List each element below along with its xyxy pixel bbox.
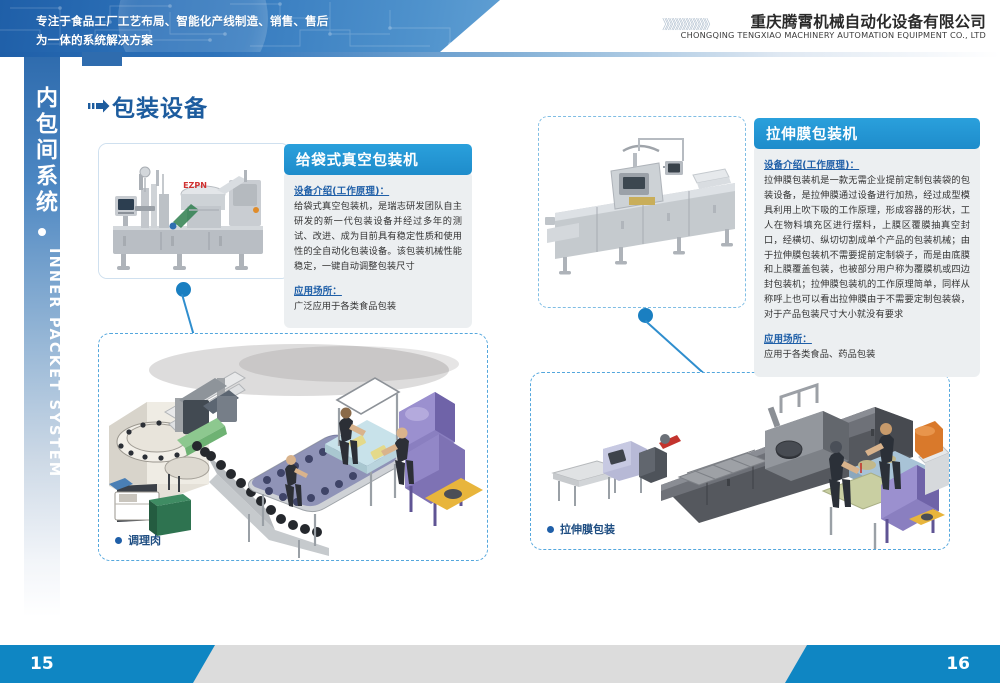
diagram2-bullet-icon — [547, 526, 554, 533]
card2-intro-text: 拉伸膜包装机是一款无需企业提前定制包装袋的包装设备，是拉伸膜通过设备进行加热，经… — [764, 174, 970, 323]
top-banner: 专注于食品工厂工艺布局、智能化产线制造、销售、售后 为一体的系统解决方案 》》》… — [0, 0, 1000, 52]
prepared-meat-line-illustration — [99, 334, 488, 561]
card-vacuum-bag-packing: 给袋式真空包装机 设备介绍(工作原理)： 给袋式真空包装机，是瑞志研发团队自主研… — [284, 144, 472, 328]
sidebar-title-en: INNER PACKET SYSTEM — [22, 248, 62, 478]
page-number-left: 15 — [30, 654, 54, 674]
photo-stretch-film-machine — [538, 116, 746, 308]
card1-intro-label: 设备介绍(工作原理)： — [294, 183, 462, 197]
photo-vacuum-bag-machine: EZPN — [98, 143, 290, 279]
company-name-cn: 重庆腾霄机械自动化设备有限公司 — [750, 10, 986, 32]
card2-usage-text: 应用于各类食品、药品包装 — [764, 348, 970, 363]
card1-usage-text: 广泛应用于各类食品包装 — [294, 300, 462, 315]
card2-intro-label: 设备介绍(工作原理)： — [764, 157, 970, 171]
card2-body: 设备介绍(工作原理)： 拉伸膜包装机是一款无需企业提前定制包装袋的包装设备，是拉… — [754, 145, 980, 377]
diagram1-bullet-icon — [115, 537, 122, 544]
arrow-right-icon — [88, 98, 110, 114]
card1-header: 给袋式真空包装机 — [284, 144, 472, 175]
card2-header: 拉伸膜包装机 — [754, 118, 980, 149]
card1-intro-text: 给袋式真空包装机，是瑞志研发团队自主研发的新一代包装设备并经过多年的测试、改进、… — [294, 200, 462, 275]
banner-tab-accent — [82, 52, 122, 66]
card-stretch-film-packing: 拉伸膜包装机 设备介绍(工作原理)： 拉伸膜包装机是一款无需企业提前定制包装袋的… — [754, 118, 980, 377]
diagram1-caption: 调理肉 — [115, 532, 161, 548]
diagram-prepared-meat: 调理肉 — [98, 333, 488, 561]
company-name-en: CHONGQING TENGXIAO MACHINERY AUTOMATION … — [681, 30, 986, 40]
diagram-stretch-film-packing: 拉伸膜包装 — [530, 372, 950, 550]
company-slogan: 专注于食品工厂工艺布局、智能化产线制造、销售、售后 为一体的系统解决方案 — [36, 12, 456, 50]
card1-body: 设备介绍(工作原理)： 给袋式真空包装机，是瑞志研发团队自主研发的新一代包装设备… — [284, 171, 472, 328]
diagram1-caption-text: 调理肉 — [128, 532, 161, 548]
page-number-right: 16 — [946, 654, 970, 674]
card1-usage-label: 应用场所： — [294, 283, 462, 297]
brochure-page: 专注于食品工厂工艺布局、智能化产线制造、销售、售后 为一体的系统解决方案 》》》… — [0, 0, 1000, 683]
diagram2-caption: 拉伸膜包装 — [547, 521, 615, 537]
slogan-line-2: 为一体的系统解决方案 — [36, 31, 456, 50]
sidebar-title-cn: 内包间系统 — [24, 86, 60, 216]
stretch-film-machine-image — [539, 117, 746, 308]
card2-usage-label: 应用场所： — [764, 331, 970, 345]
sidebar-bullet-icon — [38, 228, 46, 236]
vacuum-bag-machine-image: EZPN — [99, 144, 290, 279]
diagram2-caption-text: 拉伸膜包装 — [560, 521, 615, 537]
slogan-line-1: 专注于食品工厂工艺布局、智能化产线制造、销售、售后 — [36, 12, 456, 31]
banner-underline — [0, 52, 1000, 57]
svg-text:EZPN: EZPN — [183, 181, 207, 190]
page-title: 包装设备 — [112, 89, 208, 123]
